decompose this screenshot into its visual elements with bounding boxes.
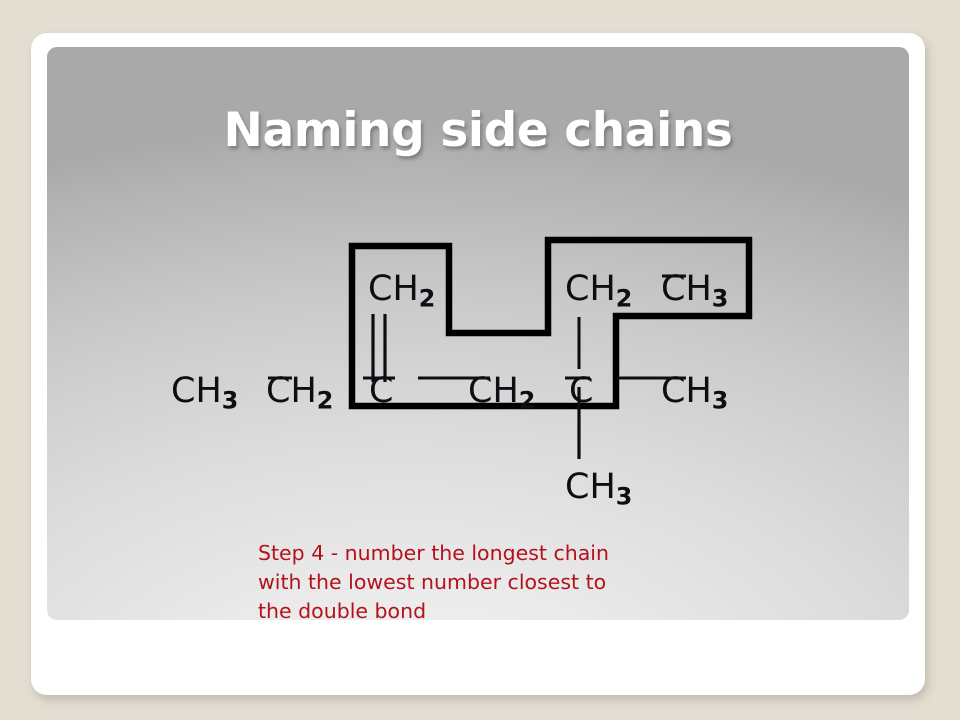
caption-line-2: with the lowest number closest to	[258, 568, 728, 597]
atom-label-ch2-middle: CH2	[468, 374, 535, 413]
atom-label-ch3-right: CH3	[661, 374, 728, 413]
slide-frame: Naming side chains	[31, 33, 925, 695]
atom-label-ch3-top-right: CH3	[661, 272, 728, 311]
caption-line-1: Step 4 - number the longest chain	[258, 539, 728, 568]
atom-label-c-quaternary: C	[569, 374, 593, 413]
atom-label-ch3-left: CH3	[171, 374, 238, 413]
slide-canvas: Naming side chains	[47, 47, 909, 620]
atom-label-ch2-top-right: CH2	[565, 272, 632, 311]
chemical-structure-diagram: CH3 CH2 C CH2 CH2 C CH2 CH3	[47, 47, 909, 620]
caption-line-3: the double bond	[258, 597, 728, 620]
atom-label-ch2-top-left: CH2	[368, 272, 435, 311]
atom-label-ch2-left: CH2	[266, 374, 333, 413]
atom-label-ch3-bottom: CH3	[565, 470, 632, 509]
structure-bond-lines	[47, 47, 909, 620]
atom-label-c-alkene: C	[369, 374, 393, 413]
caption-text: Step 4 - number the longest chain with t…	[258, 539, 728, 620]
